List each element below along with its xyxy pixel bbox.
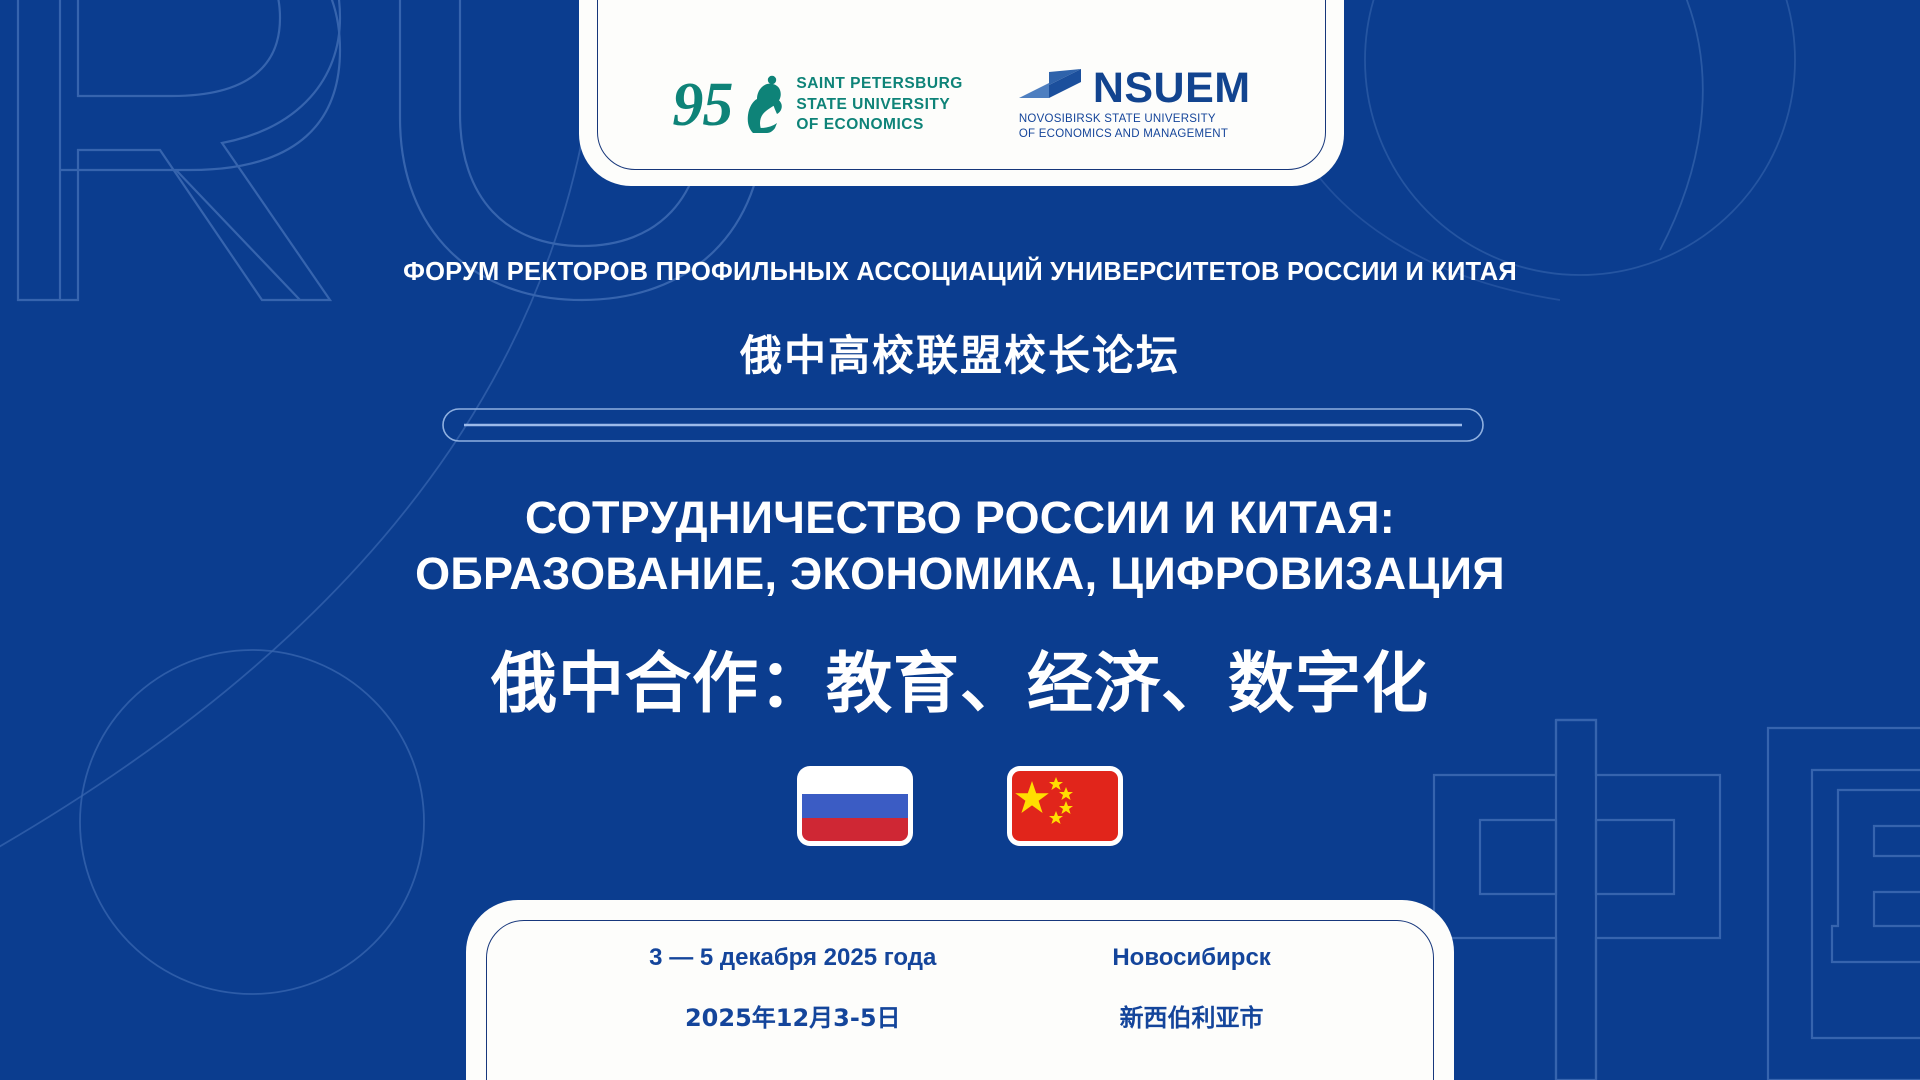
decorative-divider (442, 408, 1484, 442)
title-cn: 俄中合作：教育、经济、数字化 (0, 630, 1920, 726)
nsuem-sub-line1: NOVOSIBIRSK STATE UNIVERSITY (1019, 112, 1251, 127)
nsuem-top-row: NSUEM (1019, 68, 1251, 109)
nsuem-brand: NSUEM (1093, 68, 1251, 109)
russia-flag-band-blue (802, 794, 908, 817)
date-column: 3 — 5 декабря 2025 года 2025年12月3-5日 (649, 944, 936, 1033)
china-flag-face (1012, 771, 1118, 841)
china-flag (1007, 766, 1123, 846)
anniversary-number: 95 (672, 74, 732, 136)
city-cn: 新西伯利亚市 (1112, 998, 1270, 1033)
kicker-cn: 俄中高校联盟校长论坛 (0, 322, 1920, 383)
date-cn: 2025年12月3-5日 (649, 998, 936, 1033)
date-ru: 3 — 5 декабря 2025 года (649, 944, 936, 972)
russia-flag (797, 766, 913, 846)
title-ru: СОТРУДНИЧЕСТВО РОССИИ И КИТАЯ: ОБРАЗОВАН… (0, 490, 1920, 602)
title-ru-line1: СОТРУДНИЧЕСТВО РОССИИ И КИТАЯ: (0, 490, 1920, 546)
nsuem-logo: NSUEM NOVOSIBIRSK STATE UNIVERSITY OF EC… (1019, 68, 1251, 142)
poster-stage: 95 SAINT PETERSBURG STATE UNIVERSITY OF … (0, 0, 1920, 1080)
logo-row: 95 SAINT PETERSBURG STATE UNIVERSITY OF … (579, 46, 1344, 164)
title-ru-line2: ОБРАЗОВАНИЕ, ЭКОНОМИКА, ЦИФРОВИЗАЦИЯ (0, 546, 1920, 602)
nsuem-subtitle: NOVOSIBIRSK STATE UNIVERSITY OF ECONOMIC… (1019, 112, 1251, 142)
logo-card: 95 SAINT PETERSBURG STATE UNIVERSITY OF … (579, 0, 1344, 186)
spbsue-logo: 95 SAINT PETERSBURG STATE UNIVERSITY OF … (672, 73, 962, 137)
city-column: Новосибирск 新西伯利亚市 (1112, 944, 1270, 1033)
nsuem-sub-line2: OF ECONOMICS AND MANAGEMENT (1019, 127, 1251, 142)
info-card: 3 — 5 декабря 2025 года 2025年12月3-5日 Нов… (466, 900, 1454, 1080)
city-ru: Новосибирск (1112, 944, 1270, 972)
russia-flag-band-white (802, 771, 908, 794)
kicker-ru: ФОРУМ РЕКТОРОВ ПРОФИЛЬНЫХ АССОЦИАЦИЙ УНИ… (0, 258, 1920, 287)
griffin-icon (741, 73, 787, 137)
nsuem-arrow-mark-icon (1019, 69, 1081, 109)
flags-row (0, 766, 1920, 846)
spbsue-line1: SAINT PETERSBURG (796, 74, 962, 95)
spbsue-line3: OF ECONOMICS (796, 115, 962, 136)
info-grid: 3 — 5 декабря 2025 года 2025年12月3-5日 Нов… (466, 944, 1454, 1033)
spbsue-line2: STATE UNIVERSITY (796, 95, 962, 116)
russia-flag-face (802, 771, 908, 841)
russia-flag-band-red (802, 818, 908, 841)
spbsue-wordmark: SAINT PETERSBURG STATE UNIVERSITY OF ECO… (796, 74, 962, 136)
